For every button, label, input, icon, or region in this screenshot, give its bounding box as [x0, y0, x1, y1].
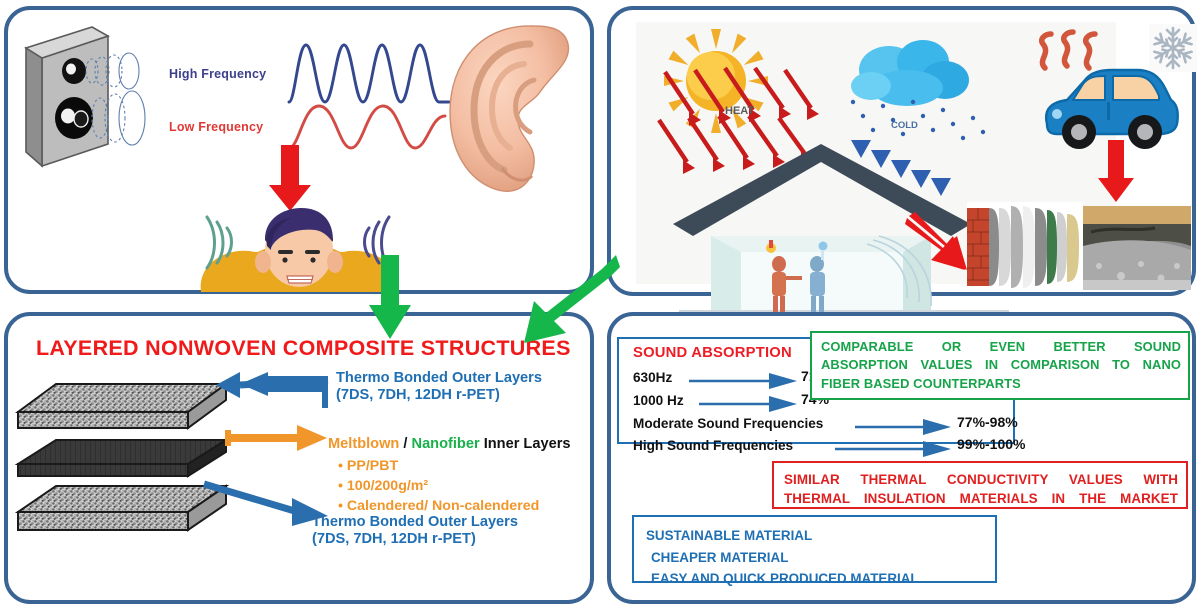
loudspeaker-icon — [22, 26, 162, 156]
graphical-abstract: High Frequency Low Frequency — [0, 0, 1200, 611]
cold-label: COLD — [891, 120, 918, 131]
sound-absorption-title: SOUND ABSORPTION — [633, 345, 792, 361]
low-frequency-label: Low Frequency — [169, 120, 263, 134]
green-diagonal-arrow-icon — [520, 255, 620, 345]
thermal-note-text: SIMILAR THERMAL CONDUCTIVITY VALUES WITH… — [784, 470, 1178, 509]
outer-layer-slab-icon — [18, 486, 226, 530]
orange-arrow-icon — [225, 425, 330, 451]
nanofiber-word: Nanofiber — [412, 436, 480, 452]
sa-row-value: 77%-98% — [957, 414, 1018, 430]
blue-arrow-icon — [200, 480, 330, 528]
top-layer-label: Thermo Bonded Outer Layers (7DS, 7DH, 12… — [336, 370, 542, 404]
outer-layer-slab-icon — [18, 384, 226, 428]
comparison-note-text: COMPARABLE OR EVEN BETTER SOUND ABSORPTI… — [821, 338, 1181, 393]
sa-row-label: High Sound Frequencies — [633, 438, 793, 453]
inner-layer-heading: Meltblown / Nanofiber Inner Layers — [328, 436, 571, 453]
sa-row-label: 630Hz — [633, 370, 672, 385]
green-down-arrow-icon — [368, 255, 412, 341]
arrow-icon — [855, 419, 953, 435]
red-down-arrow-icon — [268, 145, 312, 213]
separator-slash: / — [403, 436, 407, 452]
high-frequency-label: High Frequency — [169, 67, 266, 81]
sa-row-value: 99%-100% — [957, 436, 1026, 452]
arrow-icon — [699, 396, 799, 412]
red-down-arrow-icon — [1097, 140, 1135, 204]
human-ear-icon — [438, 18, 588, 198]
sa-row-label: 1000 Hz — [633, 393, 684, 408]
sound-wave-high-icon — [289, 40, 449, 108]
thermal-panel: HEAT COLD — [607, 6, 1196, 296]
page-title: LAYERED NONWOVEN COMPOSITE STRUCTURES — [36, 336, 571, 361]
benefits-text: SUSTAINABLE MATERIAL CHEAPER MATERIAL EA… — [646, 525, 919, 590]
inner-layer-bullets: • PP/PBT • 100/200g/m² • Calendered/ Non… — [338, 456, 539, 516]
wall-insulation-layers-photo — [967, 202, 1083, 290]
car-interior-insulation-photo — [1083, 206, 1191, 290]
arrow-icon — [689, 373, 799, 389]
meltblown-word: Meltblown — [328, 436, 399, 452]
sound-wave-low-icon — [289, 102, 449, 156]
benefits-box: SUSTAINABLE MATERIAL CHEAPER MATERIAL EA… — [632, 515, 997, 583]
inner-layer-slab-icon — [18, 440, 226, 476]
noise-panel: High Frequency Low Frequency — [4, 6, 594, 294]
bottom-layer-label: Thermo Bonded Outer Layers (7DS, 7DH, 12… — [312, 514, 518, 548]
comparison-note-box: COMPARABLE OR EVEN BETTER SOUND ABSORPTI… — [810, 331, 1190, 400]
arrow-icon — [835, 441, 953, 457]
heat-label: HEAT — [725, 105, 754, 117]
thermal-note-box: SIMILAR THERMAL CONDUCTIVITY VALUES WITH… — [772, 461, 1188, 509]
blue-arrow-icon — [210, 372, 330, 422]
sa-row-label: Moderate Sound Frequencies — [633, 416, 823, 431]
inner-layers-word: Inner Layers — [484, 436, 571, 452]
